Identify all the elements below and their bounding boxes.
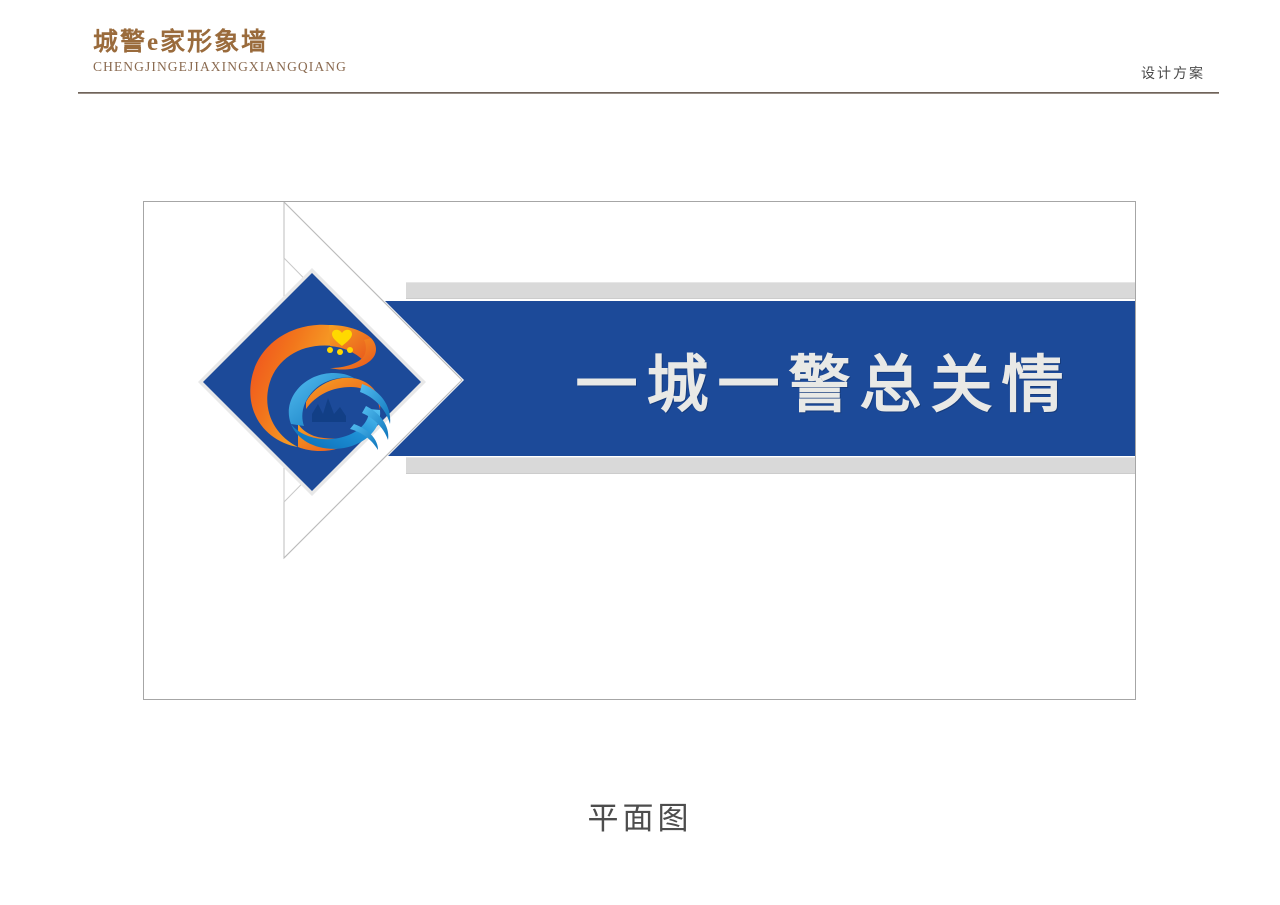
design-proposal-page: 城警e家形象墙 CHENGJINGEJIAXINGXIANGQIANG 设计方案… (0, 0, 1280, 905)
brand-title: 城警e家形象墙 (93, 30, 513, 56)
banner-stripe-bottom (406, 457, 1135, 474)
page-header: 城警e家形象墙 CHENGJINGEJIAXINGXIANGQIANG 设计方案 (0, 0, 1280, 100)
artboard-caption: 平面图 (0, 793, 1280, 838)
banner-stripe-top (406, 282, 1135, 299)
brand-block: 城警e家形象墙 CHENGJINGEJIAXINGXIANGQIANG (93, 30, 513, 75)
header-document-type-label: 设计方案 (1141, 63, 1205, 83)
header-divider-rule (78, 92, 1219, 94)
artboard-inner: 一城一警总关情 (144, 202, 1135, 699)
logo-badge (194, 264, 430, 500)
artboard-frame: 一城一警总关情 (143, 201, 1136, 700)
brand-subtitle-pinyin: CHENGJINGEJIAXINGXIANGQIANG (93, 59, 513, 75)
